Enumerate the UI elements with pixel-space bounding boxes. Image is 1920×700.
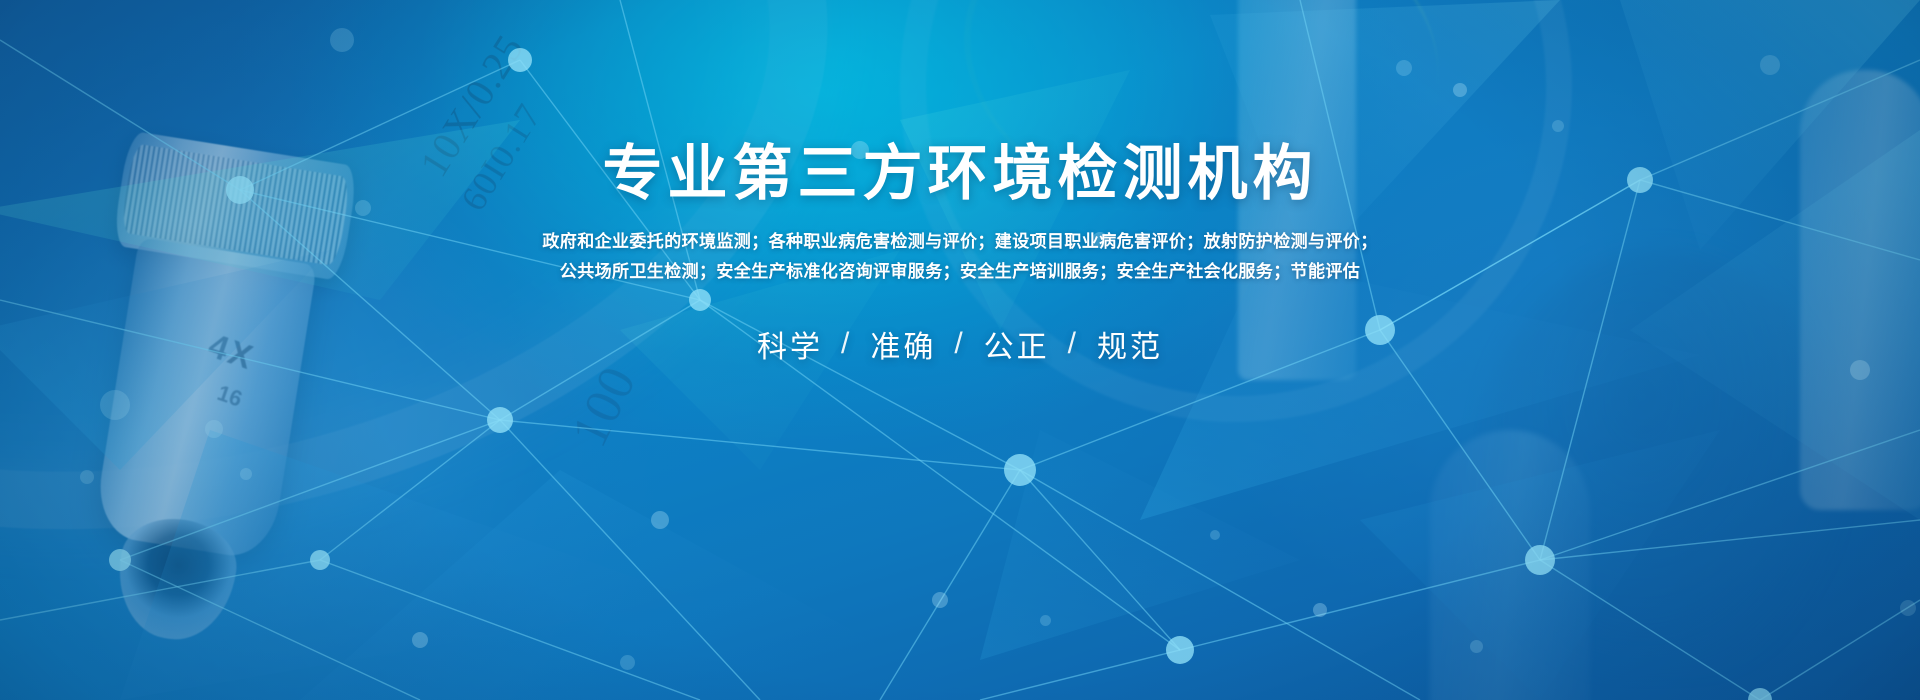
slogan-separator-1: /: [825, 327, 868, 361]
slogan-word-1: 科学: [755, 322, 825, 366]
slogan-word-4: 规范: [1095, 322, 1165, 366]
slogan-separator-2: /: [938, 327, 981, 361]
subtitle-line-2: 公共场所卫生检测；安全生产标准化咨询评审服务；安全生产培训服务；安全生产社会化服…: [560, 262, 1360, 282]
slogan: 科学 / 准确 / 公正 / 规范: [755, 322, 1165, 366]
slogan-word-3: 公正: [982, 322, 1052, 366]
slogan-word-2: 准确: [868, 322, 938, 366]
page-title: 专业第三方环境检测机构: [603, 142, 1318, 206]
banner-copy: 专业第三方环境检测机构 政府和企业委托的环境监测；各种职业病危害检测与评价；建设…: [0, 0, 1920, 700]
hero-banner: 4X 16 10X/0.25 60I0.17 100: [0, 0, 1920, 700]
slogan-separator-3: /: [1052, 327, 1095, 361]
subtitle-line-1: 政府和企业委托的环境监测；各种职业病危害检测与评价；建设项目职业病危害评价；放射…: [542, 232, 1377, 252]
